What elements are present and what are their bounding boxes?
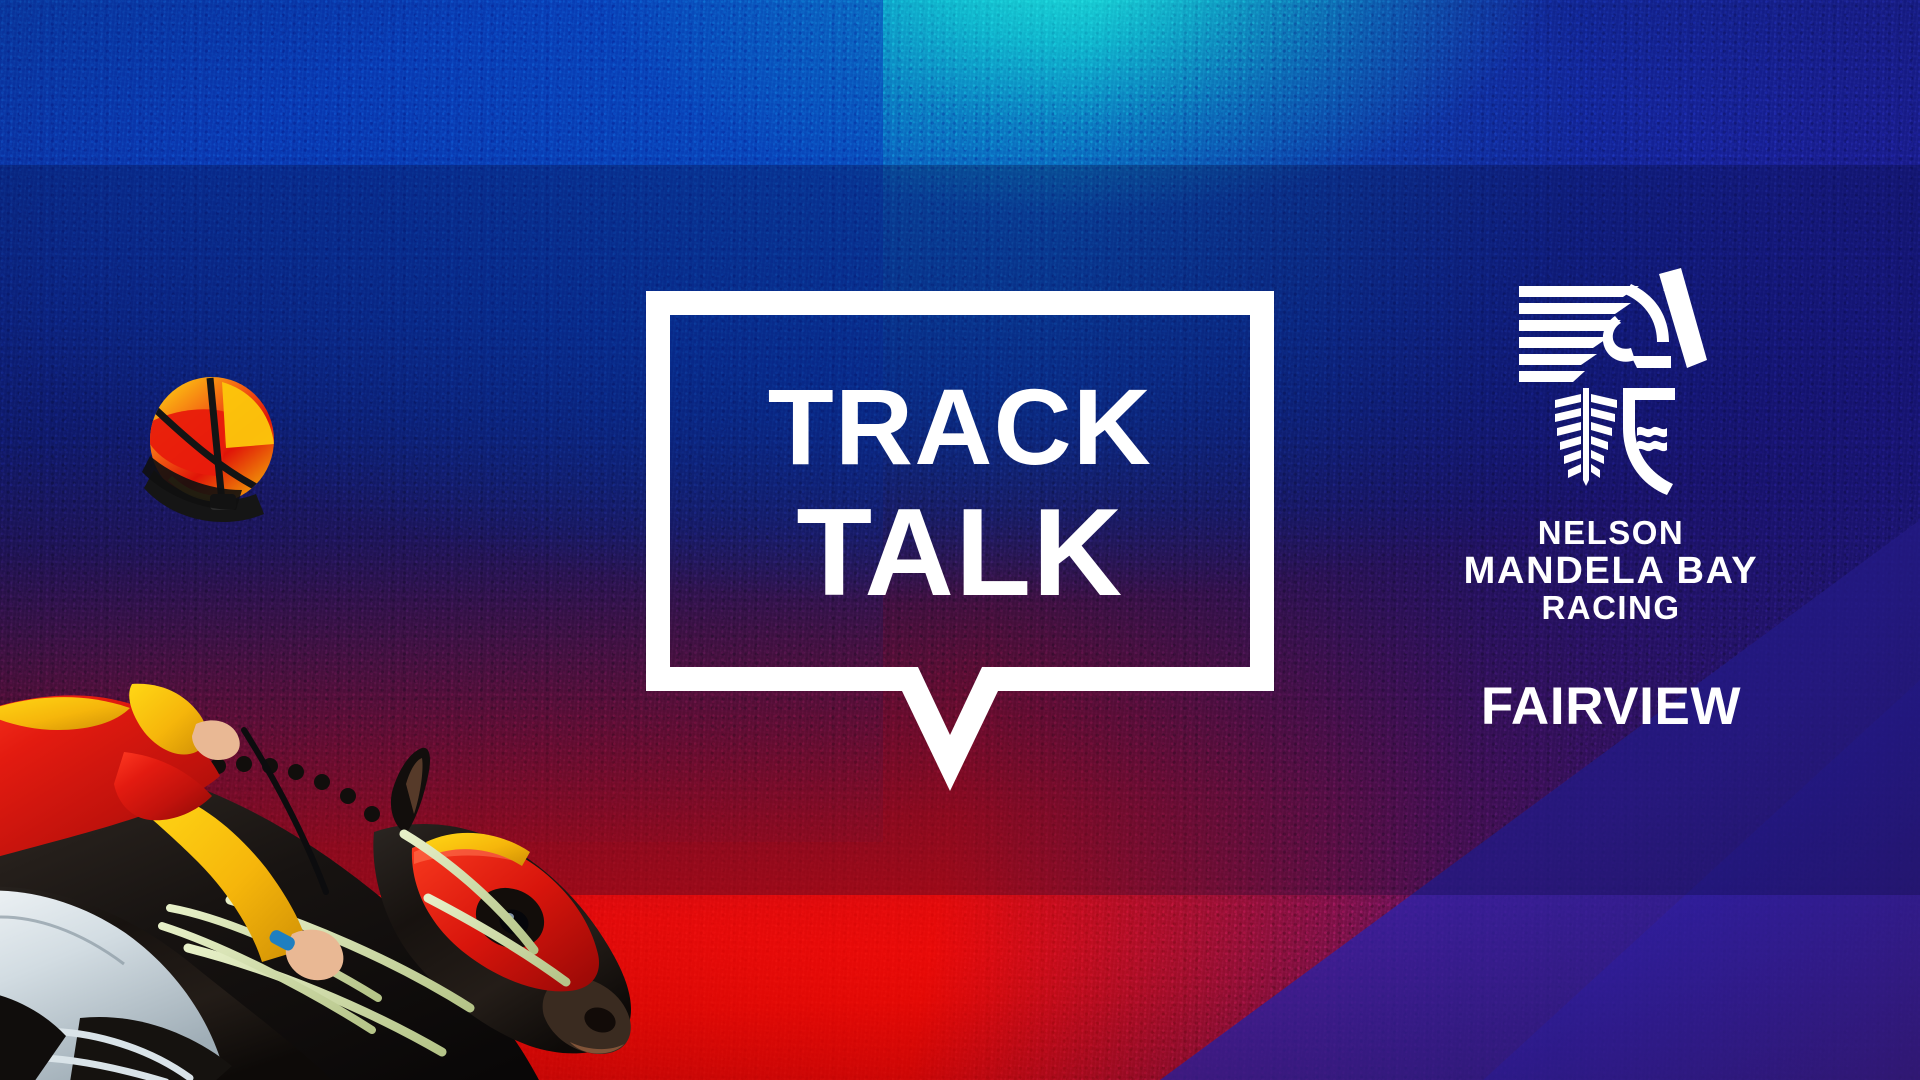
poster-canvas: TRACK TALK xyxy=(0,0,1920,1080)
track-talk-speech-bubble-logo: TRACK TALK xyxy=(646,291,1274,851)
track-talk-line-1: TRACK xyxy=(646,373,1274,481)
jockey-on-racehorse-photo xyxy=(0,352,674,1080)
logo-text-nelson: NELSON xyxy=(1446,516,1776,551)
logo-text-mandela-bay: MANDELA BAY xyxy=(1446,551,1776,591)
track-talk-line-2: TALK xyxy=(646,491,1274,615)
venue-name-fairview: FAIRVIEW xyxy=(1446,676,1776,737)
nelson-mandela-bay-racing-logo-block: NELSON MANDELA BAY RACING FAIRVIEW xyxy=(1446,268,1776,737)
horse-head-shield-emblem xyxy=(1511,268,1711,498)
logo-text-racing: RACING xyxy=(1446,591,1776,626)
